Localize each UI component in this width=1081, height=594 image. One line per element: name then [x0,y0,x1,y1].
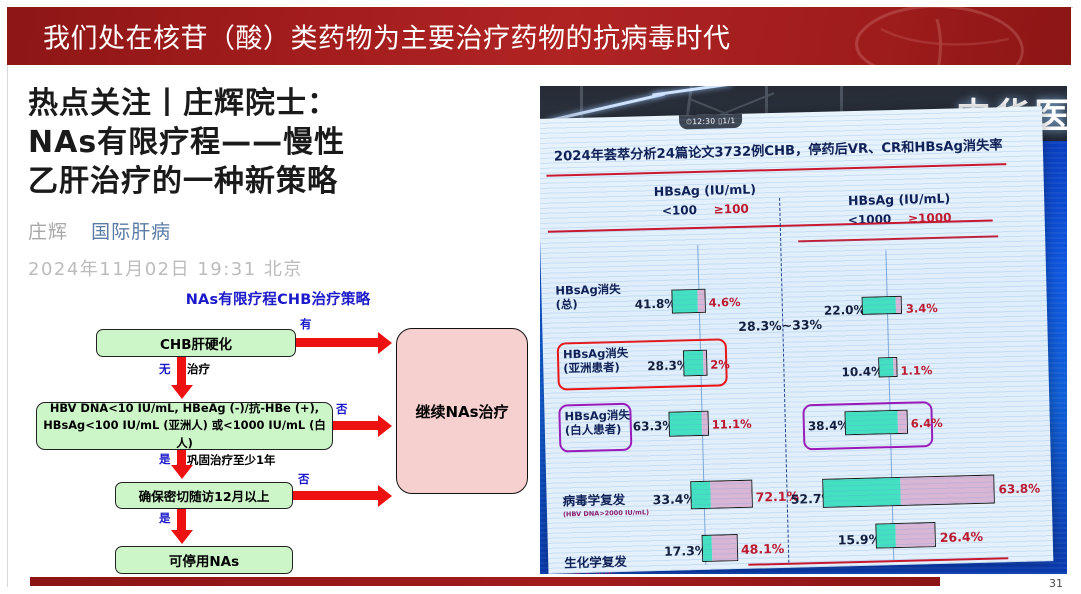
flow-label-yes-2: 是 [159,510,171,526]
group-divider [779,198,789,563]
flow-label-no-1: 否 [336,401,348,417]
row3-left-ge-value: 11.1% [712,417,752,432]
row2-left-ge-value: 2% [710,357,730,371]
flow-label-consolidate: 巩固治疗至少1年 [187,452,276,468]
row3-right-seg-ge [898,411,907,433]
row1-right-seg-lt [863,297,896,314]
row-label-2: HBsAg消失 (亚洲患者) [563,346,629,376]
arrow-head-criteria-no [378,415,392,437]
arrow-head-cirrhosis-no [171,385,193,399]
row4-right-seg-lt [823,478,900,507]
flow-label-no-cirrhosis: 无 [159,361,171,377]
rule-under-headers [798,235,998,242]
row2-right-ge-value: 1.1% [900,363,932,378]
screen-timer-badge: ⏱12:30 ▯1/1 [679,114,743,130]
left-group-header: HBsAg (IU/mL) [635,181,775,200]
criteria-line-1: HBV DNA<10 IU/mL, HBeAg (-)/抗-HBe (+), [42,400,327,417]
row3-right-ge-value: 6.4% [911,416,943,431]
row1-left-seg-lt [672,290,698,313]
row-label-2-sub: (亚洲患者) [563,360,620,375]
row2-left-bar [683,350,708,377]
slide-root: 我们处在核苷（酸）类药物为主要治疗药物的抗病毒时代 热点关注丨庄辉院士： NAs… [0,0,1081,594]
liver-watermark-icon [841,7,1041,65]
article-author: 庄辉 [28,221,68,243]
row3-right-seg-lt [846,411,899,434]
row4-right-bar [822,475,995,508]
row4-left-seg-ge [710,481,751,508]
flow-node-chb-cirrhosis[interactable]: CHB肝硬化 [96,329,296,357]
arrow-head-cirrhosis-yes [378,332,392,354]
arrow-head-followup-no [378,485,392,507]
arrow-followup-no [293,491,381,500]
left-threshold-lt: <100 [662,203,697,218]
arrow-criteria-no [333,421,381,430]
flow-node-followup[interactable]: 确保密切随访12月以上 [115,482,293,509]
article-source[interactable]: 国际肝病 [91,221,171,243]
arrow-cirrhosis-no [177,357,186,387]
row1-left-ge-value: 4.6% [709,295,741,310]
row-label-5: 生化学复发 (ALT>2×ULN) [564,554,627,574]
row2-right-seg-ge [894,358,897,376]
conference-photo: 中华医 ⏱12:30 ▯1/1 2024年荟萃分析24篇论文3732例CHB，停… [540,86,1067,574]
headline-line-1: 热点关注丨庄辉院士： [28,84,520,123]
left-group-header-text: HBsAg (IU/mL) [654,181,757,199]
row4-left-seg-lt [691,482,711,508]
chart-title: 2024年荟萃分析24篇论文3732例CHB，停药后VR、CR和HBsAg消失率 [554,134,1003,164]
flow-node-stop-nas[interactable]: 可停用NAs [115,546,293,574]
rule-mid [548,220,993,233]
row5-right-seg-lt [876,524,895,547]
row3-left-bar [668,411,709,437]
arrow-cirrhosis-yes [296,338,380,347]
row4-right-seg-ge [900,476,994,505]
row-label-4-main: 病毒学复发 [562,492,625,509]
flow-label-no-2: 否 [298,471,310,487]
arrow-head-followup-yes [171,530,193,544]
row-label-4: 病毒学复发 (HBV DNA>2000 IU/mL) [562,491,649,518]
article-headline: 热点关注丨庄辉院士： NAs有限疗程——慢性 乙肝治疗的一种新策略 [28,84,520,201]
row3-left-seg-lt [669,412,702,436]
article-dateline: 2024年11月02日 19:31 北京 [28,255,520,281]
article-byline: 庄辉 国际肝病 [28,217,520,244]
row-label-1: HBsAg消失 (总) [555,282,621,312]
row-label-3-sub: (白人患者) [565,422,622,437]
flow-label-treat: 治疗 [187,361,210,377]
chart-annotation: 28.3%~33% [738,317,822,334]
row5-right-ge-value: 26.4% [940,529,984,545]
row-label-3-main: HBsAg消失 [564,408,630,424]
row1-left-lt-value: 41.8% [635,297,677,312]
left-group-thresholds: <100 ≥100 [635,201,775,219]
row2-right-lt-value: 10.4% [841,364,883,379]
row-label-4-sub: (HBV DNA>2000 IU/mL) [563,508,649,518]
row3-right-bar [844,410,908,436]
row-label-1-sub: (总) [556,297,578,312]
row1-left-bar [671,289,706,314]
row5-right-seg-ge [895,523,935,547]
flow-node-continue-nas[interactable]: 继续NAs治疗 [396,328,528,494]
screen-content: ⏱12:30 ▯1/1 2024年荟萃分析24篇论文3732例CHB，停药后VR… [540,106,1053,574]
row3-left-seg-ge [702,412,708,435]
row1-right-seg-ge [895,297,901,313]
row2-right-seg-lt [879,358,894,376]
row-label-5-sub: (ALT>2×ULN) [564,570,627,574]
headline-line-2: NAs有限疗程——慢性 [28,123,520,162]
row5-left-seg-ge [712,535,737,561]
projection-screen: ⏱12:30 ▯1/1 2024年荟萃分析24篇论文3732例CHB，停药后VR… [540,106,1053,574]
flow-label-yes-1: 是 [159,451,171,467]
slide-title-banner: 我们处在核苷（酸）类药物为主要治疗药物的抗病毒时代 [7,7,1071,65]
row5-left-bar [702,534,739,562]
row-label-5-main: 生化学复发 [564,554,627,571]
row1-right-lt-value: 22.0% [824,303,866,318]
row-label-1-main: HBsAg消失 [555,282,621,298]
row2-left-seg-lt [684,351,704,375]
row3-right-lt-value: 38.4% [808,418,850,433]
row4-left-bar [690,480,753,510]
row1-left-seg-ge [698,290,705,312]
right-group-header-text: HBsAg (IU/mL) [848,191,951,209]
flowchart-title: NAs有限疗程CHB治疗策略 [28,288,528,309]
row1-right-bar [862,296,902,315]
page-title: 我们处在核苷（酸）类药物为主要治疗药物的抗病毒时代 [43,17,731,56]
page-number: 31 [1049,577,1063,590]
row1-right-ge-value: 3.4% [906,301,938,316]
left-threshold-ge: ≥100 [714,202,749,217]
row-label-3: HBsAg消失 (白人患者) [564,408,630,438]
flowchart: NAs有限疗程CHB治疗策略 CHB肝硬化 HBV DNA<10 IU/mL, … [28,288,528,578]
flow-label-yes-cirrhosis: 有 [300,316,312,332]
article-block: 热点关注丨庄辉院士： NAs有限疗程——慢性 乙肝治疗的一种新策略 庄辉 国际肝… [28,84,520,281]
row4-right-ge-value: 63.8% [998,481,1040,496]
footer-accent-bar [30,577,940,586]
row-label-2-main: HBsAg消失 [563,346,629,362]
arrow-followup-yes [177,509,186,532]
headline-line-3: 乙肝治疗的一种新策略 [28,162,520,201]
row5-left-ge-value: 48.1% [741,541,785,557]
criteria-line-2: HBsAg<100 IU/mL (亚洲人) 或<1000 IU/mL (白人) [42,417,327,451]
row2-right-bar [878,357,898,377]
row5-right-bar [875,522,936,549]
row2-left-seg-ge [703,351,706,375]
rule-top [546,163,1006,177]
flow-node-criteria[interactable]: HBV DNA<10 IU/mL, HBeAg (-)/抗-HBe (+), H… [36,402,333,450]
right-group-header: HBsAg (IU/mL) [824,190,974,209]
